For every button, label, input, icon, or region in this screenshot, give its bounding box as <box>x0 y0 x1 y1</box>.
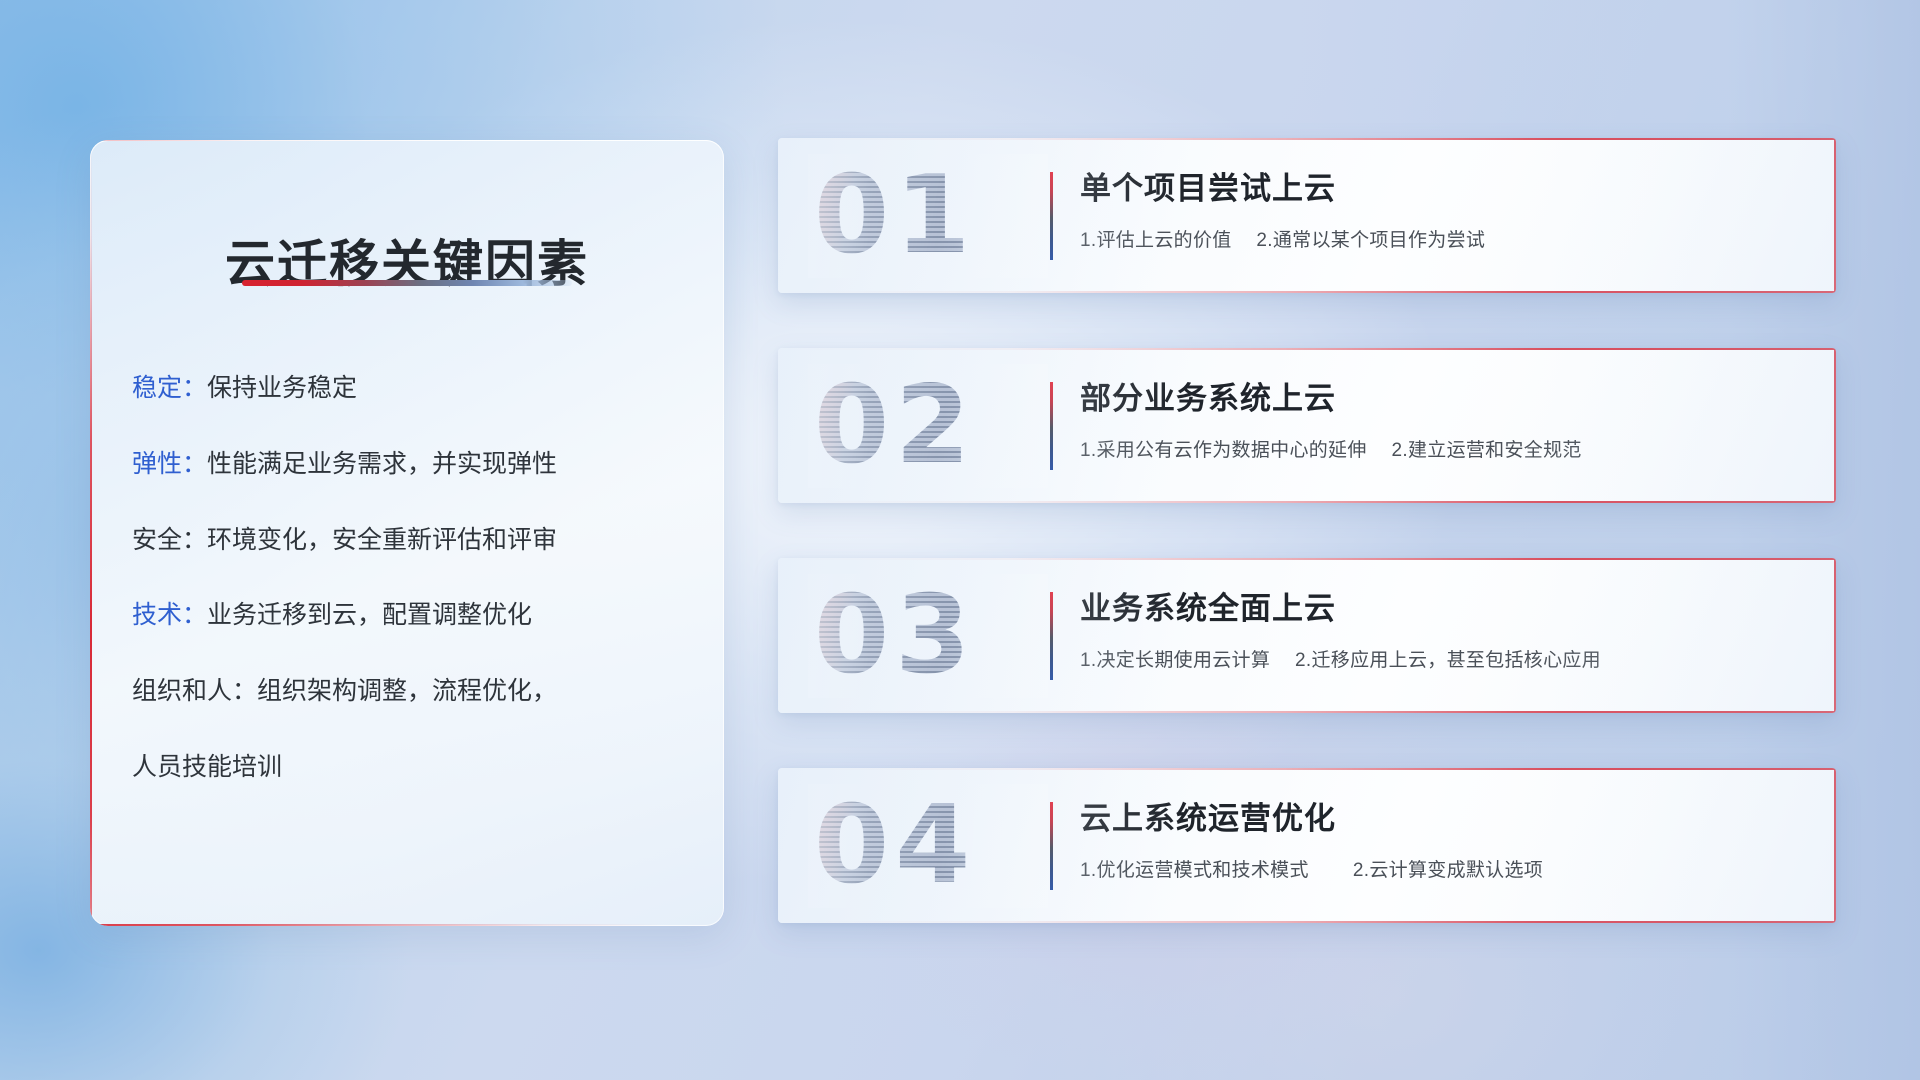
factor-item: 组织和人：组织架构调整，流程优化， <box>132 675 690 709</box>
card-body: 单个项目尝试上云 1.评估上云的价值 2.通常以某个项目作为尝试 <box>1080 170 1806 252</box>
factor-text: 组织架构调整，流程优化， <box>257 677 557 705</box>
card-description: 1.评估上云的价值 2.通常以某个项目作为尝试 <box>1080 225 1806 252</box>
card-border-bottom <box>778 291 1836 293</box>
card-body: 部分业务系统上云 1.采用公有云作为数据中心的延伸 2.建立运营和安全规范 <box>1080 380 1806 462</box>
stage-card-list: 01 单个项目尝试上云 1.评估上云的价值 2.通常以某个项目作为尝试 02 部 <box>778 138 1836 923</box>
card-border-top <box>778 138 1836 140</box>
factor-item: 安全：环境变化，安全重新评估和评审 <box>132 524 690 558</box>
title-underline-rule <box>242 280 572 286</box>
panel-accent-bottom <box>90 924 724 926</box>
card-border-top <box>778 348 1836 350</box>
card-title: 部分业务系统上云 <box>1080 380 1806 419</box>
card-step-number: 04 <box>814 786 1044 906</box>
card-border-bottom <box>778 501 1836 503</box>
card-title: 业务系统全面上云 <box>1080 590 1806 629</box>
card-accent-bar <box>1050 592 1053 680</box>
factor-item: 技术：业务迁移到云，配置调整优化 <box>132 599 690 633</box>
factor-list: 稳定：保持业务稳定 弹性：性能满足业务需求，并实现弹性 安全：环境变化，安全重新… <box>132 372 690 785</box>
factor-item: 弹性：性能满足业务需求，并实现弹性 <box>132 448 690 482</box>
card-description: 1.采用公有云作为数据中心的延伸 2.建立运营和安全规范 <box>1080 435 1806 462</box>
card-accent-bar <box>1050 172 1053 260</box>
card-body: 云上系统运营优化 1.优化运营模式和技术模式 2.云计算变成默认选项 <box>1080 800 1806 882</box>
factor-label: 组织和人： <box>132 677 257 705</box>
card-accent-bar <box>1050 382 1053 470</box>
factor-label: 稳定： <box>132 374 207 402</box>
card-border-top <box>778 558 1836 560</box>
factor-text: 性能满足业务需求，并实现弹性 <box>207 450 557 478</box>
card-border-right <box>1834 558 1836 713</box>
card-border-bottom <box>778 711 1836 713</box>
card-border-bottom <box>778 921 1836 923</box>
panel-accent-top <box>90 140 724 141</box>
card-title: 云上系统运营优化 <box>1080 800 1806 839</box>
factor-text: 业务迁移到云，配置调整优化 <box>207 601 532 629</box>
stage-card[interactable]: 04 云上系统运营优化 1.优化运营模式和技术模式 2.云计算变成默认选项 <box>778 768 1836 923</box>
key-factors-panel: 云迁移关键因素 稳定：保持业务稳定 弹性：性能满足业务需求，并实现弹性 安全：环… <box>90 140 724 926</box>
factor-text: 环境变化，安全重新评估和评审 <box>207 526 557 554</box>
factor-label: 安全： <box>132 526 207 554</box>
card-border-right <box>1834 768 1836 923</box>
slide-content: 云迁移关键因素 稳定：保持业务稳定 弹性：性能满足业务需求，并实现弹性 安全：环… <box>0 0 1920 1080</box>
card-border-right <box>1834 138 1836 293</box>
card-title: 单个项目尝试上云 <box>1080 170 1806 209</box>
factor-label: 弹性： <box>132 450 207 478</box>
stage-card[interactable]: 01 单个项目尝试上云 1.评估上云的价值 2.通常以某个项目作为尝试 <box>778 138 1836 293</box>
card-accent-bar <box>1050 802 1053 890</box>
factor-text: 保持业务稳定 <box>207 374 357 402</box>
stage-card[interactable]: 03 业务系统全面上云 1.决定长期使用云计算 2.迁移应用上云，甚至包括核心应… <box>778 558 1836 713</box>
card-border-top <box>778 768 1836 770</box>
factor-item: 稳定：保持业务稳定 <box>132 372 690 406</box>
card-step-number: 03 <box>814 576 1044 696</box>
factor-label: 技术： <box>132 601 207 629</box>
card-description: 1.决定长期使用云计算 2.迁移应用上云，甚至包括核心应用 <box>1080 645 1806 672</box>
factor-text: 人员技能培训 <box>132 753 282 781</box>
slide-canvas: 云迁移关键因素 稳定：保持业务稳定 弹性：性能满足业务需求，并实现弹性 安全：环… <box>0 0 1920 1080</box>
card-border-right <box>1834 348 1836 503</box>
card-step-number: 02 <box>814 366 1044 486</box>
card-step-number: 01 <box>814 156 1044 276</box>
factor-item-continuation: 人员技能培训 <box>132 751 690 785</box>
card-description: 1.优化运营模式和技术模式 2.云计算变成默认选项 <box>1080 855 1806 882</box>
card-body: 业务系统全面上云 1.决定长期使用云计算 2.迁移应用上云，甚至包括核心应用 <box>1080 590 1806 672</box>
stage-card[interactable]: 02 部分业务系统上云 1.采用公有云作为数据中心的延伸 2.建立运营和安全规范 <box>778 348 1836 503</box>
